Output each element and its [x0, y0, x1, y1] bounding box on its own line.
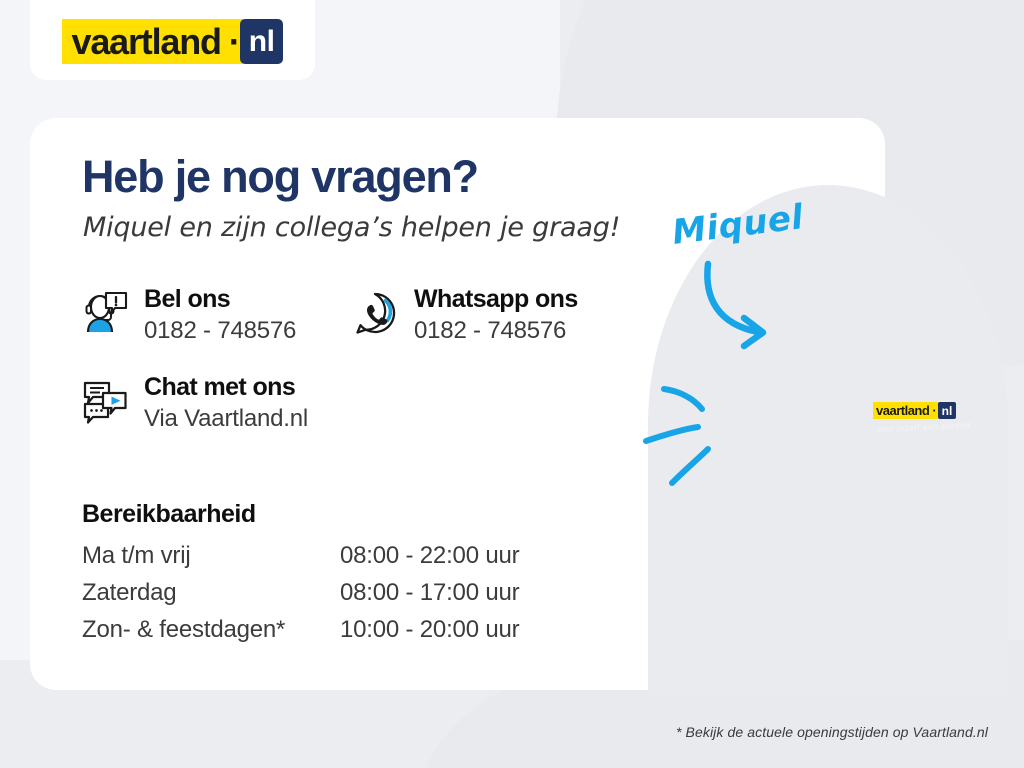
page-root: vaartland · nl Heb je nog vragen? Miquel…	[0, 0, 1024, 768]
polo-logo-tld: nl	[938, 402, 957, 419]
brand-logo-badge[interactable]: vaartland · nl	[30, 0, 315, 80]
contact-value-call: 0182 - 748576	[144, 317, 296, 345]
vaartland-logo: vaartland · nl	[62, 19, 284, 64]
contact-title-whatsapp: Whatsapp ons	[414, 286, 578, 313]
contact-title-chat: Chat met ons	[144, 374, 308, 401]
whatsapp-icon	[352, 290, 398, 336]
hours-day: Ma t/m vrij	[82, 542, 340, 579]
contact-item-chat[interactable]: Chat met ons Via Vaartland.nl	[82, 374, 308, 433]
curved-arrow-icon	[700, 258, 810, 353]
logo-wordmark: vaartland	[62, 19, 229, 64]
hours-time: 10:00 - 20:00 uur	[340, 616, 519, 653]
contact-item-call[interactable]: Bel ons 0182 - 748576	[82, 286, 296, 345]
opening-hours-table: Ma t/m vrij 08:00 - 22:00 uur Zaterdag 0…	[82, 542, 519, 653]
hours-day: Zaterdag	[82, 579, 340, 616]
hours-time: 08:00 - 17:00 uur	[340, 579, 519, 616]
contact-text-block: Whatsapp ons 0182 - 748576	[414, 286, 578, 345]
hours-day: Zon- & feestdagen*	[82, 616, 340, 653]
polo-chest-logo: vaartland · nl	[873, 402, 956, 419]
polo-logo-wordmark: vaartland	[873, 402, 932, 419]
contact-item-whatsapp[interactable]: Whatsapp ons 0182 - 748576	[352, 286, 578, 345]
hours-heading: Bereikbaarheid	[82, 500, 256, 529]
contact-value-whatsapp: 0182 - 748576	[414, 317, 578, 345]
table-row: Zon- & feestdagen* 10:00 - 20:00 uur	[82, 616, 519, 653]
page-subtitle: Miquel en zijn collega’s helpen je graag…	[83, 212, 620, 243]
chat-bubbles-icon	[82, 378, 128, 424]
headset-agent-icon	[82, 290, 128, 336]
blue-accent-strokes	[638, 365, 758, 500]
hours-time: 08:00 - 22:00 uur	[340, 542, 519, 579]
contact-text-block: Chat met ons Via Vaartland.nl	[144, 374, 308, 433]
contact-title-call: Bel ons	[144, 286, 296, 313]
table-row: Ma t/m vrij 08:00 - 22:00 uur	[82, 542, 519, 579]
logo-tld: nl	[240, 19, 284, 64]
polo-logo-dot: ·	[932, 402, 937, 419]
contact-text-block: Bel ons 0182 - 748576	[144, 286, 296, 345]
page-title: Heb je nog vragen?	[82, 151, 478, 203]
contact-value-chat: Via Vaartland.nl	[144, 405, 308, 433]
footnote-text: * Bekijk de actuele openingstijden op Va…	[676, 724, 988, 740]
table-row: Zaterdag 08:00 - 17:00 uur	[82, 579, 519, 616]
